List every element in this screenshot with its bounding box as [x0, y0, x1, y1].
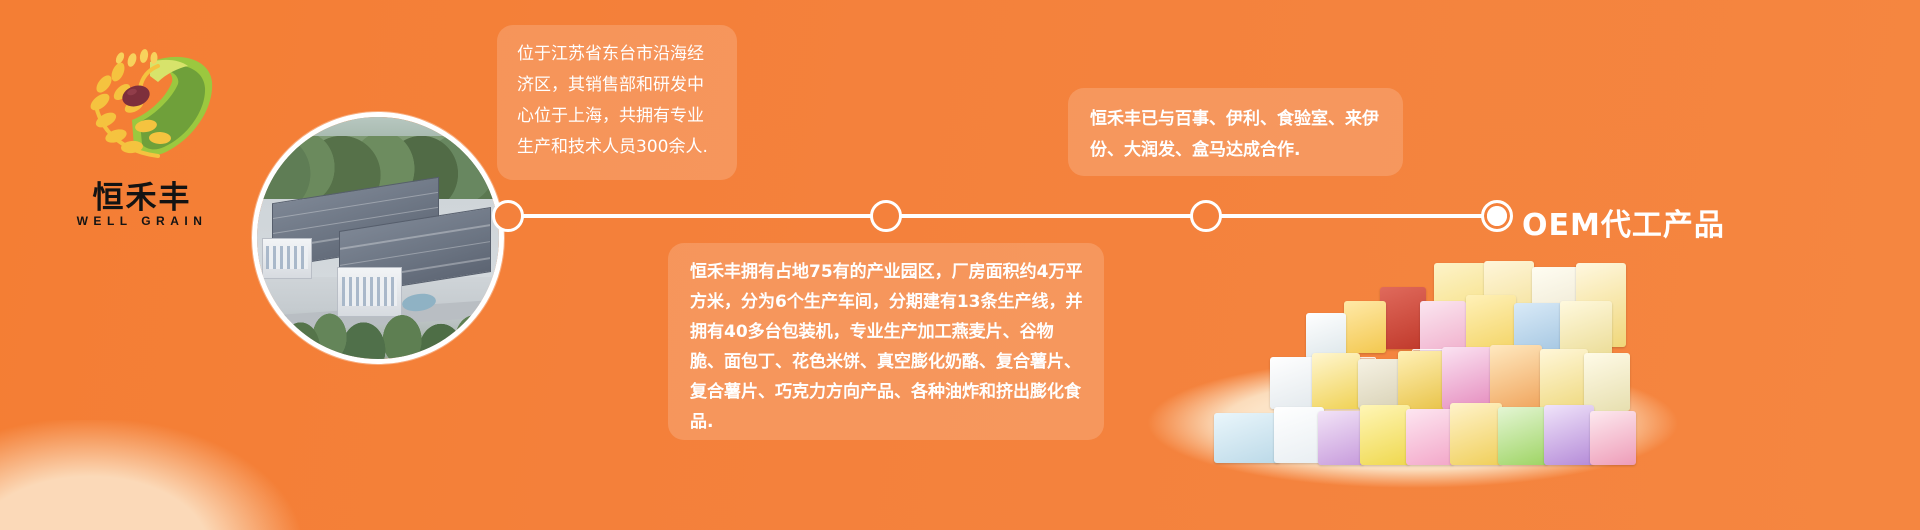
timeline-node-1[interactable] [492, 200, 524, 232]
facility-text: 恒禾丰拥有占地75有的产业园区，厂房面积约4万平方米，分为6个生产车间，分期建有… [690, 257, 1084, 437]
wheat-heart-logo-icon [62, 42, 222, 167]
photo-landscaping [257, 286, 499, 359]
facility-card: 恒禾丰拥有占地75有的产业园区，厂房面积约4万平方米，分为6个生产车间，分期建有… [668, 243, 1104, 440]
partners-card: 恒禾丰已与百事、伊利、食验室、来伊份、大润发、盒马达成合作. [1068, 88, 1403, 176]
timeline-node-3[interactable] [1190, 200, 1222, 232]
timeline-node-4[interactable] [1481, 200, 1513, 232]
oem-company-banner: 恒禾丰 WELL GRAIN OEM代工产品 位于江苏省东台市沿海经济区，其销售… [0, 0, 1920, 530]
product-display [1148, 238, 1678, 488]
location-card: 位于江苏省东台市沿海经济区，其销售部和研发中心位于上海，共拥有专业生产和技术人员… [497, 25, 737, 180]
brand-logo[interactable]: 恒禾丰 WELL GRAIN [52, 42, 232, 227]
office-building-a [262, 238, 312, 279]
location-text: 位于江苏省东台市沿海经济区，其销售部和研发中心位于上海，共拥有专业生产和技术人员… [517, 39, 719, 163]
product-pile [1184, 261, 1644, 466]
partners-text: 恒禾丰已与百事、伊利、食验室、来伊份、大润发、盒马达成合作. [1090, 104, 1383, 166]
logo-name-cn: 恒禾丰 [52, 172, 232, 217]
factory-photo [252, 112, 504, 364]
logo-name-en: WELL GRAIN [52, 214, 232, 228]
bottom-left-glow [0, 420, 300, 530]
timeline-node-2[interactable] [870, 200, 902, 232]
timeline-track [500, 214, 1490, 218]
